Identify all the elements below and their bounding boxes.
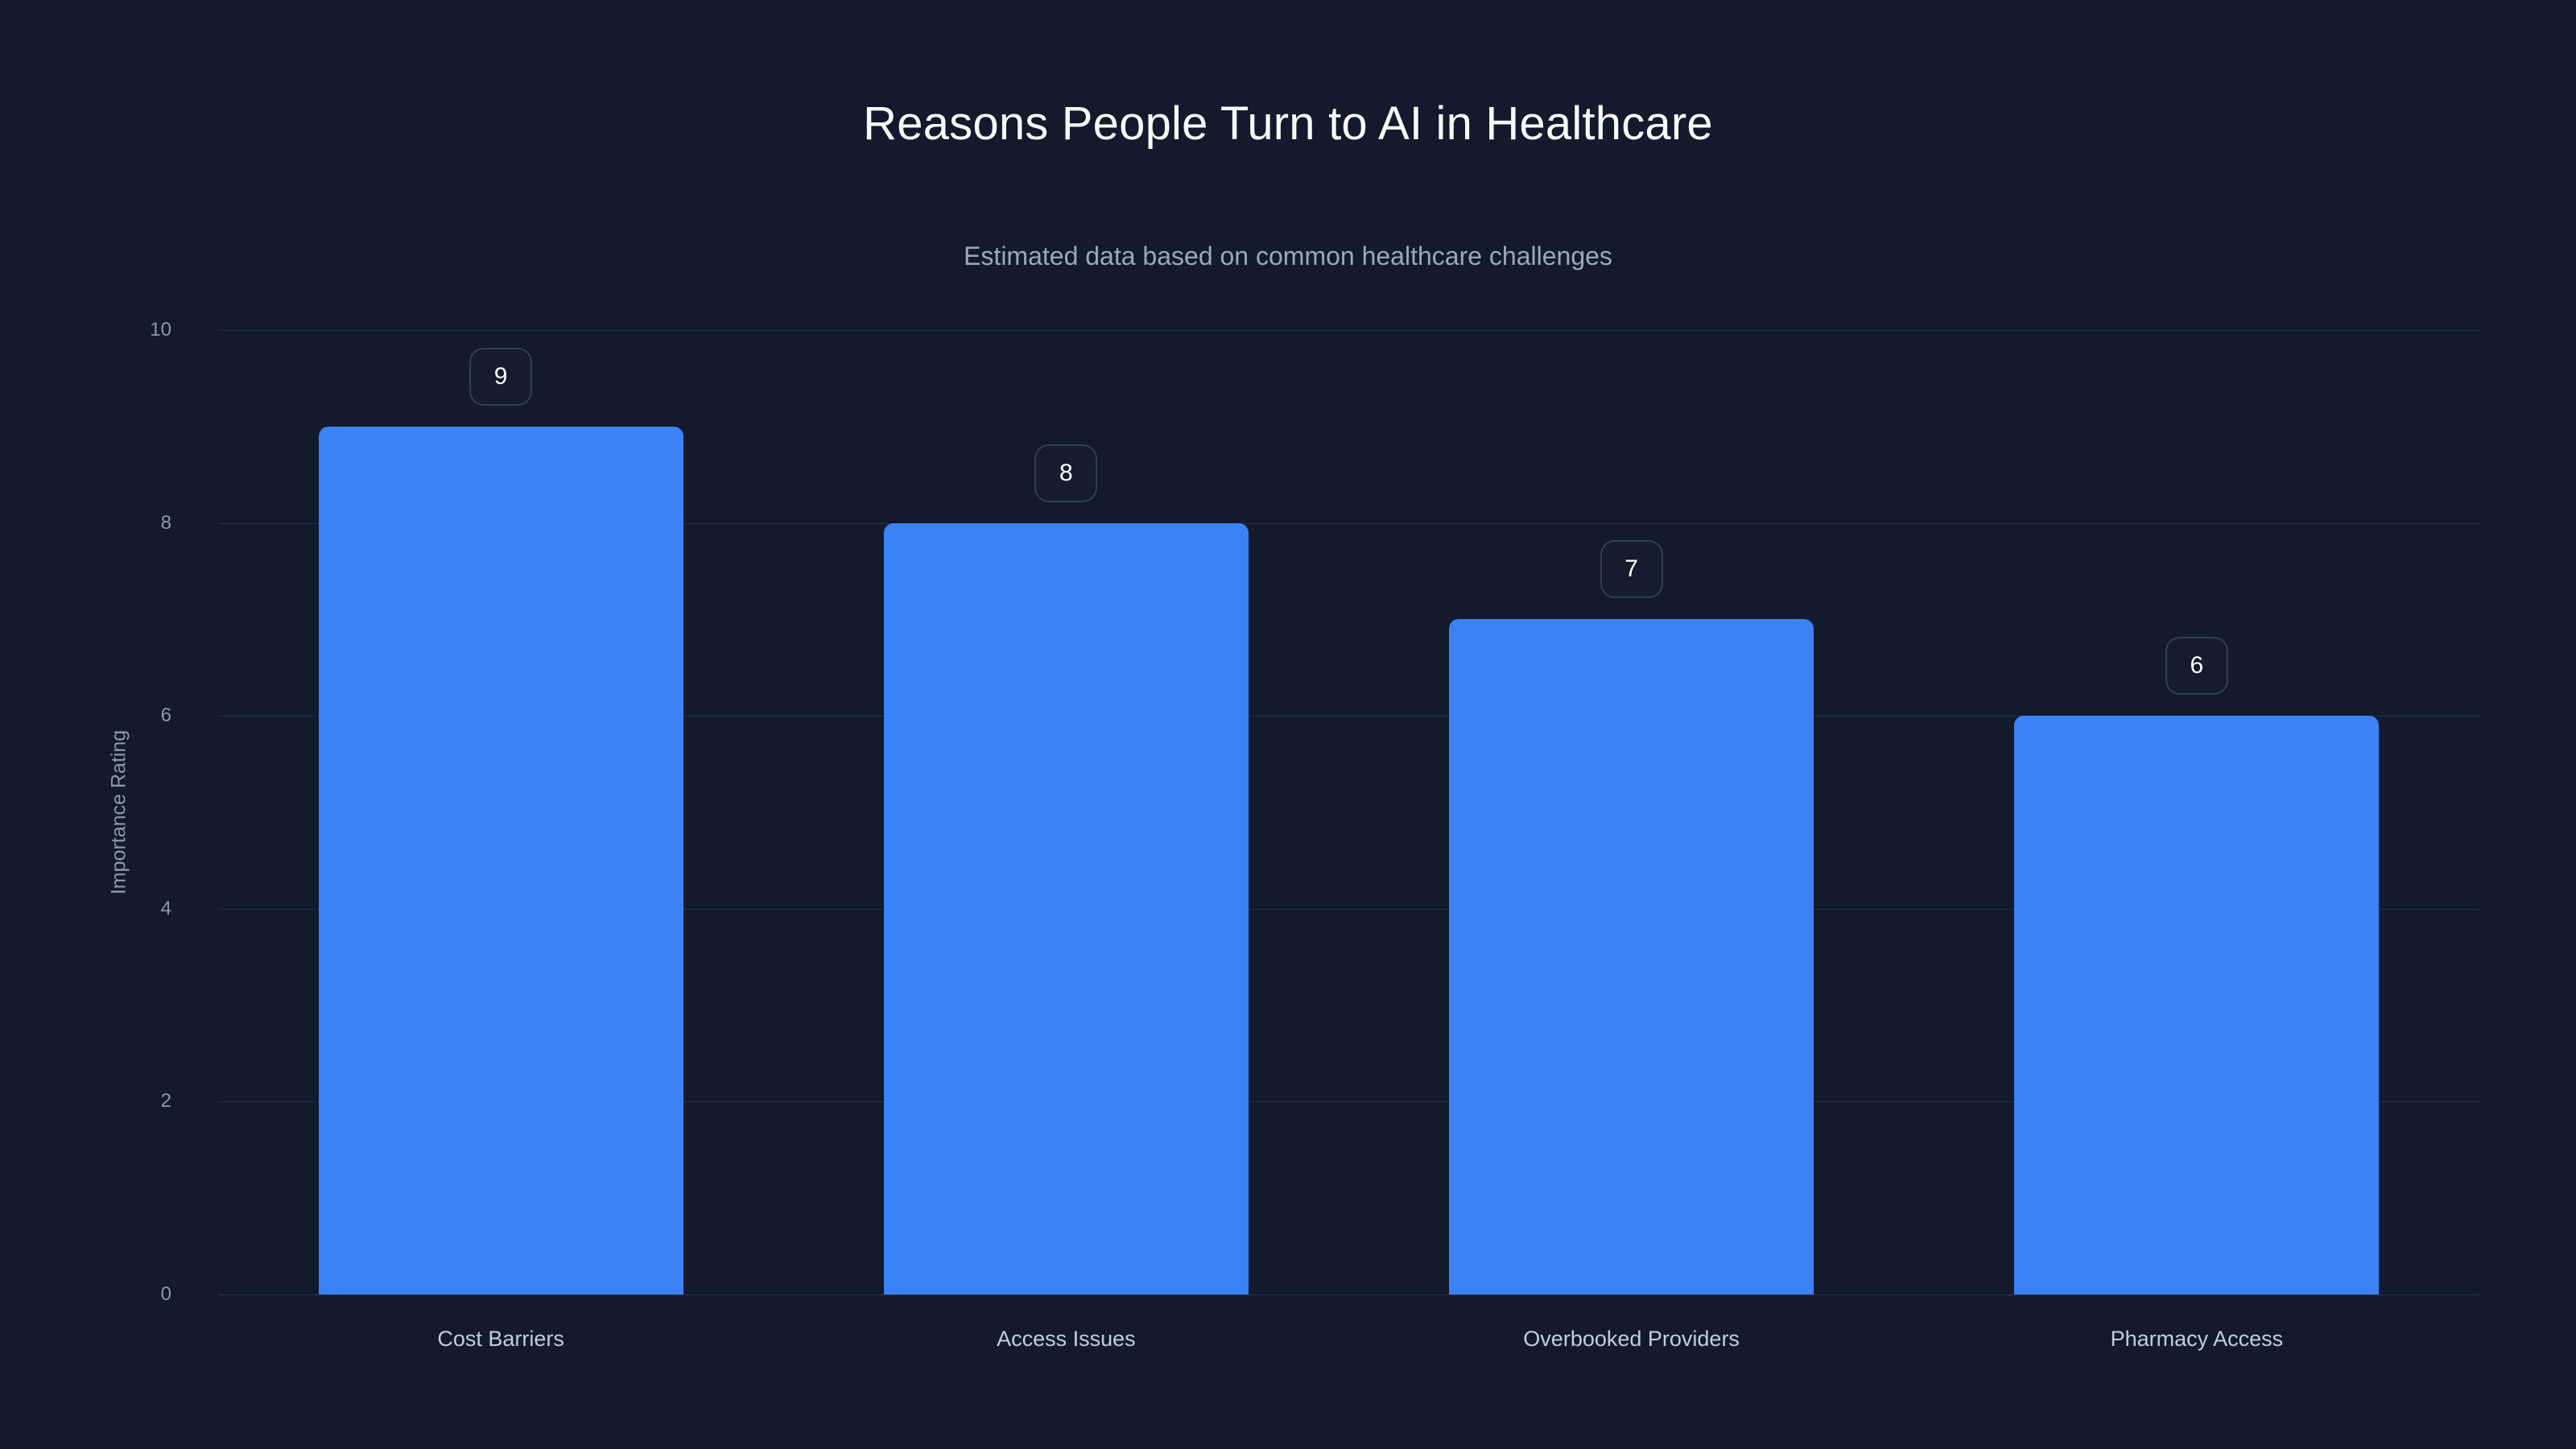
bar-value-badge: 9 xyxy=(469,348,532,406)
y-axis-tick-label: 10 xyxy=(0,319,193,341)
bar-group[interactable]: 6Pharmacy Access xyxy=(2014,330,2379,1294)
x-axis-tick-label: Access Issues xyxy=(997,1327,1136,1352)
bar[interactable] xyxy=(2014,716,2379,1294)
bar-value-badge: 8 xyxy=(1034,444,1097,502)
bar-chart-figure: Reasons People Turn to AI in Healthcare … xyxy=(0,0,2576,1449)
plot-area: 9Cost Barriers8Access Issues7Overbooked … xyxy=(218,330,2479,1294)
x-axis-tick-label: Cost Barriers xyxy=(437,1327,564,1352)
x-axis-tick-label: Pharmacy Access xyxy=(2111,1327,2284,1352)
y-axis-tick-label: 0 xyxy=(0,1283,193,1306)
y-axis-tick-label: 6 xyxy=(0,704,193,727)
y-axis-title: Importance Rating xyxy=(108,730,131,894)
bar[interactable] xyxy=(319,427,683,1294)
y-axis-tick-label: 2 xyxy=(0,1090,193,1113)
gridline xyxy=(218,1294,2479,1295)
page-title: Reasons People Turn to AI in Healthcare xyxy=(0,97,2576,151)
bar-value-badge: 7 xyxy=(1600,540,1663,598)
bar-group[interactable]: 7Overbooked Providers xyxy=(1449,330,1814,1294)
bar-value-badge: 6 xyxy=(2165,637,2228,695)
y-axis-tick-label: 8 xyxy=(0,512,193,535)
chart-subtitle: Estimated data based on common healthcar… xyxy=(0,242,2576,271)
bar[interactable] xyxy=(884,523,1249,1294)
bar-group[interactable]: 8Access Issues xyxy=(884,330,1249,1294)
bar-group[interactable]: 9Cost Barriers xyxy=(319,330,683,1294)
x-axis-tick-label: Overbooked Providers xyxy=(1523,1327,1740,1352)
bar[interactable] xyxy=(1449,619,1814,1294)
y-axis-tick-label: 4 xyxy=(0,898,193,920)
